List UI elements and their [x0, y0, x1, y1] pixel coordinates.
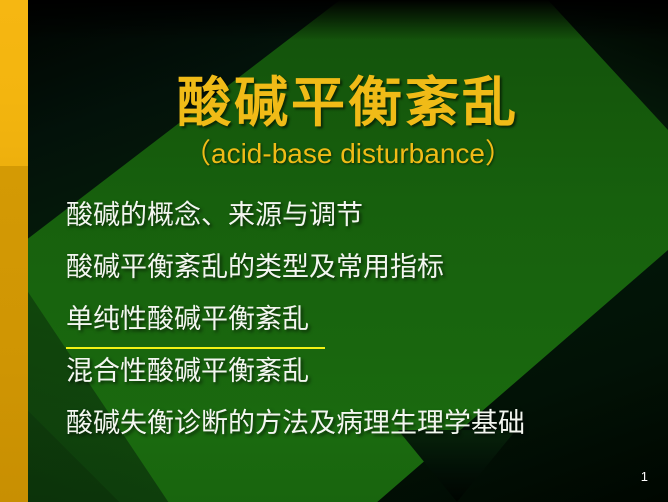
slide-canvas: 酸碱平衡紊乱 （acid-base disturbance） 酸碱的概念、来源与… — [0, 0, 668, 502]
outline-list: 酸碱的概念、来源与调节 酸碱平衡紊乱的类型及常用指标 单纯性酸碱平衡紊乱 混合性… — [66, 190, 656, 450]
list-item: 混合性酸碱平衡紊乱 — [66, 346, 656, 398]
list-item-highlighted[interactable]: 单纯性酸碱平衡紊乱 — [66, 294, 656, 346]
list-item-label: 单纯性酸碱平衡紊乱 — [66, 294, 325, 349]
list-item-label: 酸碱失衡诊断的方法及病理生理学基础 — [66, 398, 525, 450]
list-item-label: 酸碱平衡紊乱的类型及常用指标 — [66, 242, 444, 294]
list-item-label: 混合性酸碱平衡紊乱 — [66, 346, 309, 398]
list-item: 酸碱平衡紊乱的类型及常用指标 — [66, 242, 656, 294]
background-top-shade — [0, 0, 668, 40]
gold-sidebar — [0, 0, 28, 502]
list-item: 酸碱的概念、来源与调节 — [66, 190, 656, 242]
gold-sidebar-upper-band — [0, 0, 28, 166]
list-item-label: 酸碱的概念、来源与调节 — [66, 190, 363, 242]
gold-sidebar-lower-band — [0, 166, 28, 502]
list-item: 酸碱失衡诊断的方法及病理生理学基础 — [66, 398, 656, 450]
page-number: 1 — [641, 469, 648, 484]
